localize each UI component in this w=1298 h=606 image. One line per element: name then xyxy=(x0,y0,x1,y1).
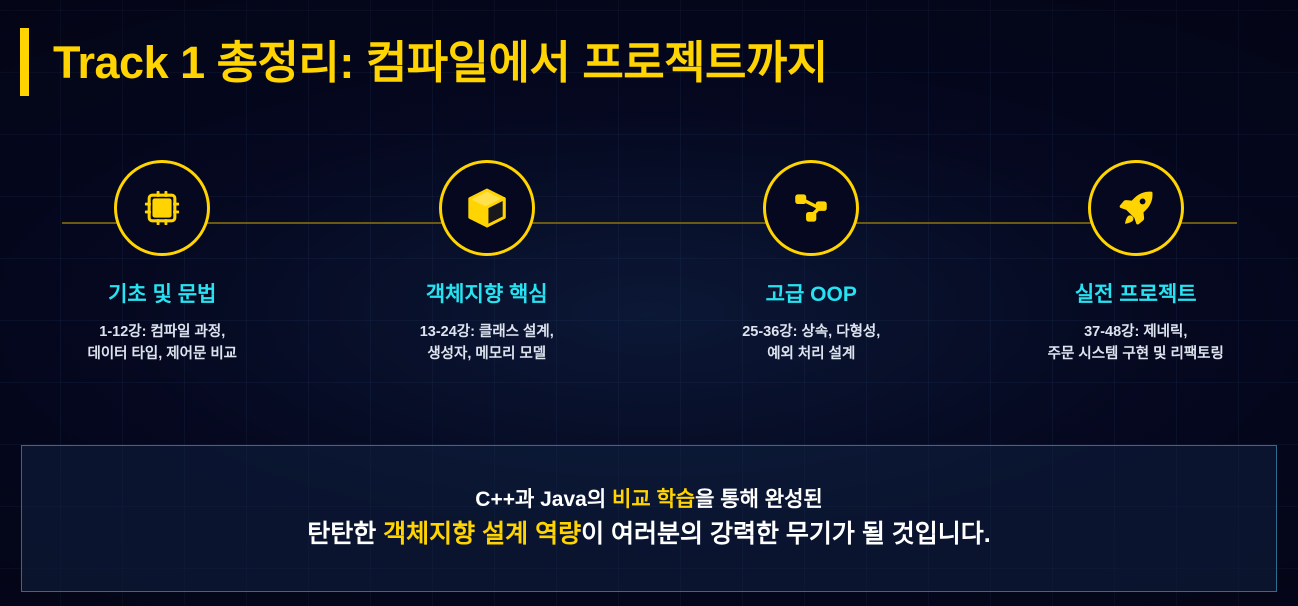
summary-line-1-post: 을 통해 완성된 xyxy=(695,488,823,511)
summary-line-1: C++과 Java의 비교 학습을 통해 완성된 xyxy=(475,485,822,515)
summary-line-2-highlight: 객체지향 설계 역량 xyxy=(383,520,581,548)
step-1-title: 기초 및 문법 xyxy=(108,284,216,305)
summary-line-2-post: 이 여러분의 강력한 무기가 될 것입니다. xyxy=(581,520,991,548)
step-4-description: 37-48강: 제네릭, 주문 시스템 구현 및 리팩토링 xyxy=(1048,321,1224,366)
step-1-description: 1-12강: 컴파일 과정, 데이터 타입, 제어문 비교 xyxy=(87,321,237,366)
summary-line-2-pre: 탄탄한 xyxy=(307,520,383,548)
title-accent-bar xyxy=(20,28,29,96)
sitemap-icon xyxy=(789,186,833,230)
step-1-icon-circle xyxy=(114,160,210,256)
rocket-icon xyxy=(1114,186,1158,230)
timeline-step-3[interactable]: 고급 OOP 25-36강: 상속, 다형성, 예외 처리 설계 xyxy=(649,160,974,400)
step-3-icon-circle xyxy=(763,160,859,256)
summary-line-1-highlight: 비교 학습 xyxy=(612,488,695,511)
page-title: Track 1 총정리: 컴파일에서 프로젝트까지 xyxy=(20,28,828,96)
step-2-icon-circle xyxy=(439,160,535,256)
summary-line-2: 탄탄한 객체지향 설계 역량이 여러분의 강력한 무기가 될 것입니다. xyxy=(307,516,991,552)
step-3-description: 25-36강: 상속, 다형성, 예외 처리 설계 xyxy=(742,321,880,366)
step-4-icon-circle xyxy=(1088,160,1184,256)
summary-line-1-pre: C++과 Java의 xyxy=(475,488,612,511)
title-text: Track 1 총정리: 컴파일에서 프로젝트까지 xyxy=(53,40,828,85)
microchip-icon xyxy=(139,185,185,231)
timeline: 기초 및 문법 1-12강: 컴파일 과정, 데이터 타입, 제어문 비교 xyxy=(0,160,1298,400)
timeline-step-4[interactable]: 실전 프로젝트 37-48강: 제네릭, 주문 시스템 구현 및 리팩토링 xyxy=(974,160,1298,400)
cube-icon xyxy=(464,185,510,231)
slide-root: Track 1 총정리: 컴파일에서 프로젝트까지 xyxy=(0,0,1298,606)
timeline-step-2[interactable]: 객체지향 핵심 13-24강: 클래스 설계, 생성자, 메모리 모델 xyxy=(325,160,650,400)
summary-banner: C++과 Java의 비교 학습을 통해 완성된 탄탄한 객체지향 설계 역량이… xyxy=(21,445,1277,592)
timeline-step-1[interactable]: 기초 및 문법 1-12강: 컴파일 과정, 데이터 타입, 제어문 비교 xyxy=(0,160,325,400)
step-4-title: 실전 프로젝트 xyxy=(1075,284,1197,305)
step-3-title: 고급 OOP xyxy=(766,284,857,305)
step-2-title: 객체지향 핵심 xyxy=(426,284,548,305)
step-2-description: 13-24강: 클래스 설계, 생성자, 메모리 모델 xyxy=(420,321,554,366)
